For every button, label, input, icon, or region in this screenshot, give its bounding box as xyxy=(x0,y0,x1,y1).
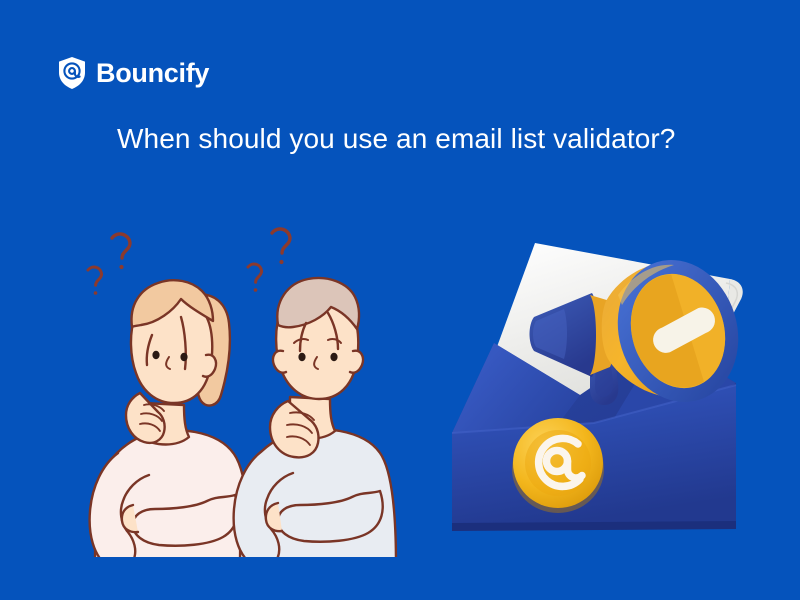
promo-banner: Bouncify When should you use an email li… xyxy=(0,0,800,600)
envelope-megaphone-illustration xyxy=(430,235,760,555)
figure-man xyxy=(234,229,396,565)
brand-name: Bouncify xyxy=(96,60,209,87)
question-mark-large xyxy=(112,234,130,269)
question-mark-small xyxy=(88,267,102,295)
brand-logo[interactable]: Bouncify xyxy=(57,56,209,90)
at-symbol-badge xyxy=(512,418,604,513)
figure-woman xyxy=(88,234,250,565)
question-mark-small xyxy=(248,264,262,292)
page-title: When should you use an email list valida… xyxy=(117,123,675,155)
question-mark-large xyxy=(272,229,290,264)
shield-at-icon xyxy=(57,56,87,90)
thinking-people-illustration xyxy=(40,205,440,565)
